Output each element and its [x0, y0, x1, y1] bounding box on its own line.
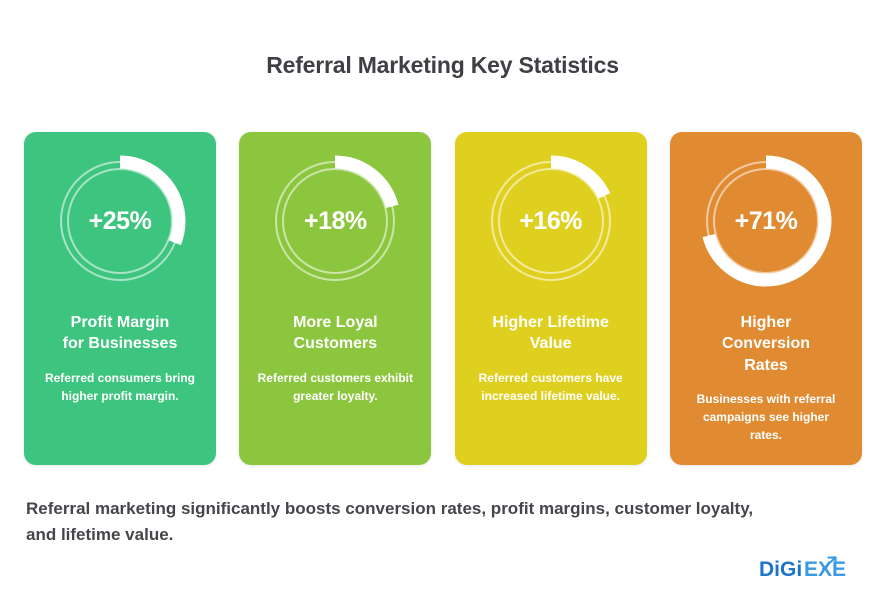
donut-value-label: +25% [45, 146, 195, 296]
card-title-line-1: Higher Lifetime [492, 314, 608, 331]
card-title: Higher LifetimeValue [465, 312, 637, 355]
card-description: Referred customers exhibit greater loyal… [256, 369, 414, 405]
card-title: Profit Marginfor Businesses [34, 312, 206, 355]
stat-cards-row: +25% Profit Marginfor Businesses Referre… [24, 132, 862, 465]
card-title-line-2: Conversion [722, 335, 810, 352]
stat-card-profit-margin[interactable]: +25% Profit Marginfor Businesses Referre… [24, 132, 216, 465]
donut-chart-conversion-rates: +71% [691, 146, 841, 296]
card-title-line-2: Value [530, 335, 572, 352]
page-title: Referral Marketing Key Statistics [0, 52, 885, 79]
brand-logo[interactable]: DiGi EXE [759, 556, 863, 582]
stat-card-conversion-rates[interactable]: +71% HigherConversionRates Businesses wi… [670, 132, 862, 465]
card-title: More LoyalCustomers [249, 312, 421, 355]
card-title: HigherConversionRates [680, 312, 852, 376]
card-description: Businesses with referral campaigns see h… [687, 390, 845, 444]
donut-value-label: +16% [476, 146, 626, 296]
donut-chart-profit-margin: +25% [45, 146, 195, 296]
card-title-line-2: for Businesses [63, 335, 178, 352]
stat-card-loyal-customers[interactable]: +18% More LoyalCustomers Referred custom… [239, 132, 431, 465]
card-title-line-1: Higher [741, 314, 792, 331]
logo-svg: DiGi EXE [759, 555, 863, 583]
card-title-line-1: Profit Margin [71, 314, 170, 331]
logo-text-exe: EXE [804, 558, 846, 581]
card-description: Referred customers have increased lifeti… [472, 369, 630, 405]
stat-card-lifetime-value[interactable]: +16% Higher LifetimeValue Referred custo… [455, 132, 647, 465]
donut-value-label: +18% [260, 146, 410, 296]
card-title-line-2: Customers [294, 335, 378, 352]
card-description: Referred consumers bring higher profit m… [41, 369, 199, 405]
card-title-line-1: More Loyal [293, 314, 377, 331]
donut-value-label: +71% [691, 146, 841, 296]
donut-chart-loyal-customers: +18% [260, 146, 410, 296]
infographic-root: Referral Marketing Key Statistics +25% P… [0, 0, 885, 600]
card-title-line-3: Rates [744, 357, 788, 374]
summary-caption: Referral marketing significantly boosts … [26, 496, 782, 547]
logo-text-digi: DiGi [759, 558, 802, 581]
donut-chart-lifetime-value: +16% [476, 146, 626, 296]
